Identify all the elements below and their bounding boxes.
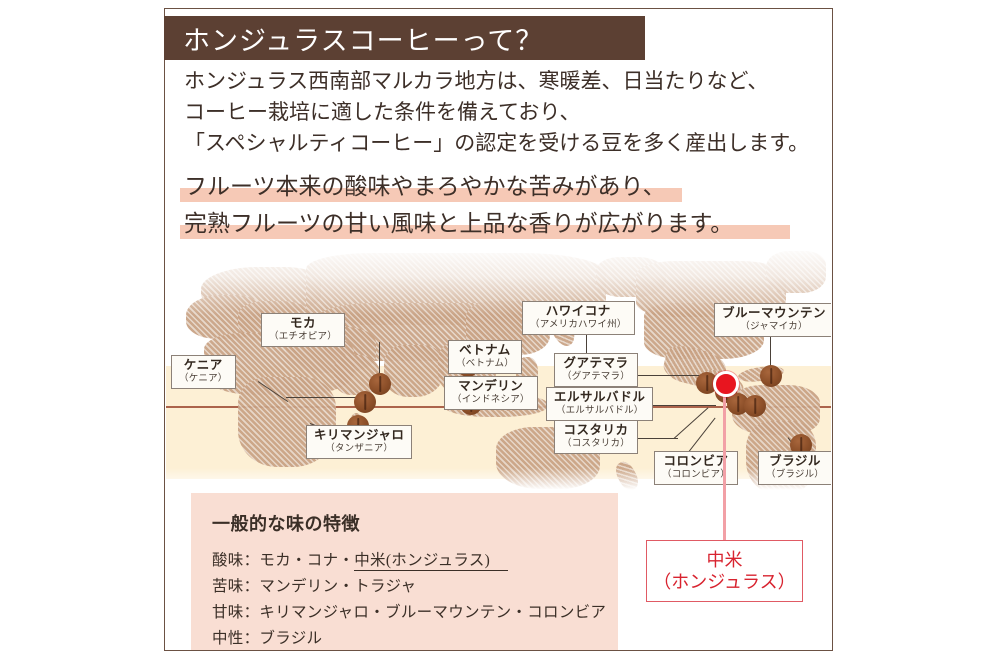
map-label-hawaii-kona-country: （アメリカハワイ州） (530, 321, 627, 331)
map-label-kenya-name: ケニア (179, 359, 228, 372)
map-label-brazil-name: ブラジル (766, 455, 824, 468)
map-label-vietnam-name: ベトナム (456, 344, 514, 357)
map-label-mocha[interactable]: モカ （エチオピア） (261, 313, 345, 347)
legend-row-neutral-label: 中性： (212, 630, 259, 647)
leader-kenya (286, 397, 364, 398)
legend-row-acidity-label: 酸味： (212, 552, 259, 569)
title-banner: ホンジュラスコーヒーって？ (164, 16, 645, 60)
map-label-kenya[interactable]: ケニア （ケニア） (171, 355, 236, 389)
leader-guatemala (634, 375, 702, 376)
legend-row-bitterness-label: 苦味： (212, 578, 259, 595)
map-label-el-salvador[interactable]: エルサルバドル （エルサルバドル） (546, 387, 653, 421)
legend-row-bitterness: 苦味：マンデリン・トラジャ (212, 574, 618, 600)
bean-marker-blue-mountain (760, 365, 782, 387)
legend-row-acidity: 酸味：モカ・コナ・中米(ホンジュラス) (212, 548, 618, 574)
bean-marker-kenya (354, 391, 376, 413)
map-label-hawaii-kona-name: ハワイコナ (530, 305, 627, 318)
land-greenland (766, 251, 826, 293)
map-label-el-salvador-name: エルサルバドル (554, 391, 645, 404)
map-label-costa-rica-name: コスタリカ (562, 424, 630, 437)
leader-costa-rica (634, 438, 678, 439)
highlight-text-2: 完熟フルーツの甘い風味と上品な香りが広がります。 (184, 211, 733, 236)
page-title: ホンジュラスコーヒーって？ (164, 19, 543, 58)
highlight-line-2: 完熟フルーツの甘い風味と上品な香りが広がります。 (184, 205, 824, 242)
map-label-blue-mountain-name: ブルーマウンテン (722, 307, 826, 320)
map-label-blue-mountain-country: （ジャマイカ） (722, 323, 826, 333)
legend-row-acidity-emphasis: 中米(ホンジュラス) (354, 552, 508, 571)
map-label-mandheling-name: マンデリン (452, 380, 530, 393)
legend-row-sweetness: 甘味：キリマンジャロ・ブルーマウンテン・コロンビア (212, 600, 618, 626)
map-label-colombia-country: （コロンビア） (662, 471, 730, 481)
bean-marker-colombia (744, 395, 766, 417)
map-label-kenya-country: （ケニア） (179, 375, 228, 385)
map-label-mocha-name: モカ (269, 317, 337, 330)
map-label-kilimanjaro-country: （タンザニア） (314, 445, 404, 455)
world-map: モカ （エチオピア） ケニア （ケニア） キリマンジャロ （タンザニア） ベトナ… (166, 245, 831, 490)
map-label-blue-mountain[interactable]: ブルーマウンテン （ジャマイカ） (714, 303, 831, 337)
honduras-callout-line2: （ホンジュラス） (653, 571, 795, 594)
map-label-mandheling[interactable]: マンデリン （インドネシア） (444, 376, 538, 410)
map-label-colombia-name: コロンビア (662, 455, 730, 468)
map-label-brazil[interactable]: ブラジル （ブラジル） (758, 451, 831, 485)
bean-marker-mocha (369, 373, 391, 395)
map-label-kilimanjaro[interactable]: キリマンジャロ （タンザニア） (306, 425, 412, 459)
intro-line-3: 「スペシャルティコーヒー」の認定を受ける豆を多く産出します。 (184, 128, 824, 159)
legend-row-neutral-plain: ブラジル (259, 630, 322, 647)
highlighted-paragraph: フルーツ本来の酸味やまろやかな苦みがあり、 完熟フルーツの甘い風味と上品な香りが… (184, 168, 824, 242)
honduras-callout-stem (723, 394, 726, 541)
map-label-mandheling-country: （インドネシア） (452, 396, 530, 406)
page-root: ホンジュラスコーヒーって？ ホンジュラス西南部マルカラ地方は、寒暖差、日当たりな… (0, 0, 1000, 666)
legend-row-sweetness-plain: キリマンジャロ・ブルーマウンテン・コロンビア (259, 604, 606, 621)
map-label-vietnam-country: （ベトナム） (456, 360, 514, 370)
legend-row-neutral: 中性：ブラジル (212, 626, 618, 652)
honduras-callout: 中米 （ホンジュラス） (646, 540, 803, 602)
honduras-marker (713, 371, 739, 397)
taste-legend-panel: 一般的な味の特徴 酸味：モカ・コナ・中米(ホンジュラス) 苦味：マンデリン・トラ… (191, 493, 618, 650)
map-label-hawaii-kona[interactable]: ハワイコナ （アメリカハワイ州） (522, 301, 635, 335)
highlight-text-1: フルーツ本来の酸味やまろやかな苦みがあり、 (184, 174, 666, 199)
map-label-guatemala-name: グアテマラ (562, 357, 630, 370)
legend-title: 一般的な味の特徴 (212, 510, 618, 536)
honduras-callout-line1: 中米 (707, 549, 743, 572)
land-india (384, 345, 444, 397)
map-label-guatemala[interactable]: グアテマラ （グアテマラ） (554, 353, 638, 387)
legend-row-bitterness-plain: マンデリン・トラジャ (259, 578, 416, 595)
legend-row-sweetness-label: 甘味： (212, 604, 259, 621)
highlight-line-1: フルーツ本来の酸味やまろやかな苦みがあり、 (184, 168, 824, 205)
map-label-mocha-country: （エチオピア） (269, 333, 337, 343)
map-label-kilimanjaro-name: キリマンジャロ (314, 429, 404, 442)
intro-line-2: コーヒー栽培に適した条件を備えており、 (184, 97, 824, 128)
map-label-costa-rica-country: （コスタリカ） (562, 440, 630, 450)
map-label-brazil-country: （ブラジル） (766, 471, 824, 481)
map-label-costa-rica[interactable]: コスタリカ （コスタリカ） (554, 420, 638, 454)
map-label-vietnam[interactable]: ベトナム （ベトナム） (448, 340, 522, 374)
intro-line-1: ホンジュラス西南部マルカラ地方は、寒暖差、日当たりなど、 (184, 66, 824, 97)
legend-row-acidity-plain: モカ・コナ・ (259, 552, 354, 569)
map-label-guatemala-country: （グアテマラ） (562, 373, 630, 383)
intro-paragraph: ホンジュラス西南部マルカラ地方は、寒暖差、日当たりなど、 コーヒー栽培に適した条… (184, 66, 824, 159)
map-label-el-salvador-country: （エルサルバドル） (554, 407, 645, 417)
